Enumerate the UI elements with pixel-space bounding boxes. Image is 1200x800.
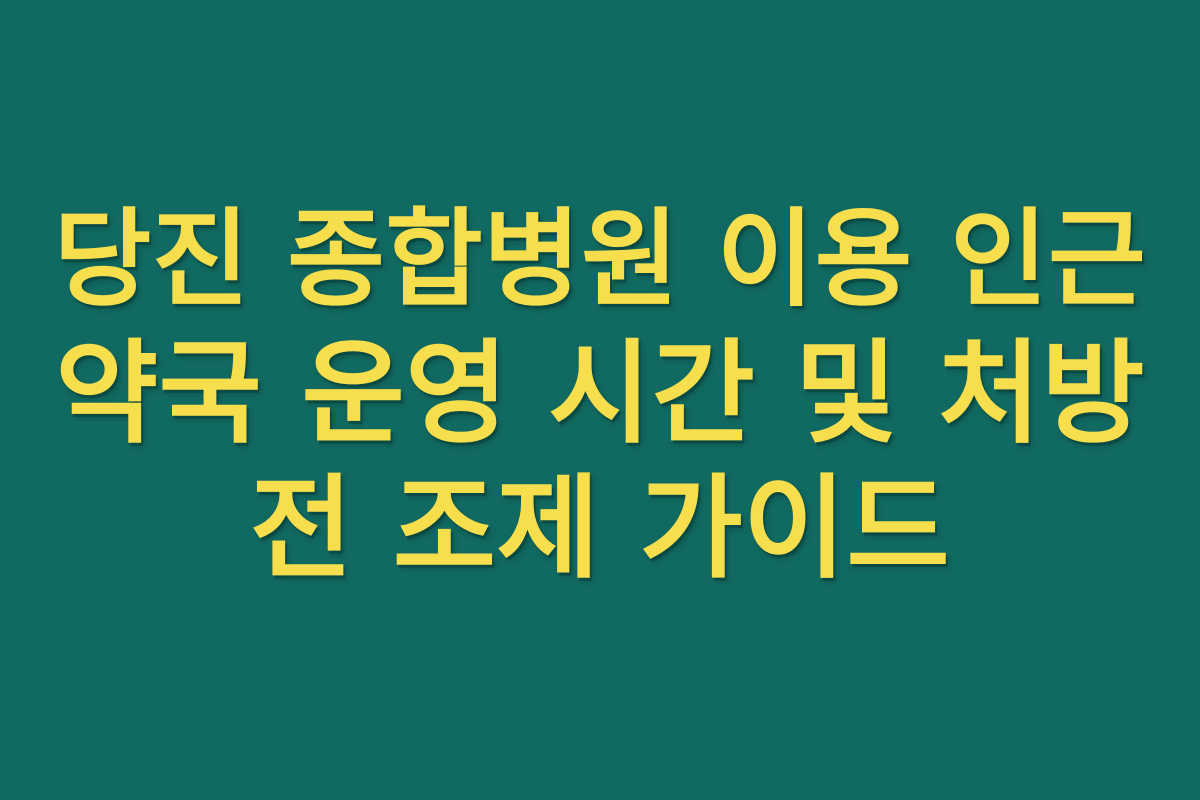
headline-block: 당진 종합병원 이용 인근 약국 운영 시간 및 처방 전 조제 가이드 [50,192,1150,597]
headline-line-3: 전 조제 가이드 [50,462,1150,597]
headline-line-2: 약국 운영 시간 및 처방 [50,327,1150,462]
title-card: 당진 종합병원 이용 인근 약국 운영 시간 및 처방 전 조제 가이드 [0,0,1200,800]
headline-line-1: 당진 종합병원 이용 인근 [50,192,1150,327]
